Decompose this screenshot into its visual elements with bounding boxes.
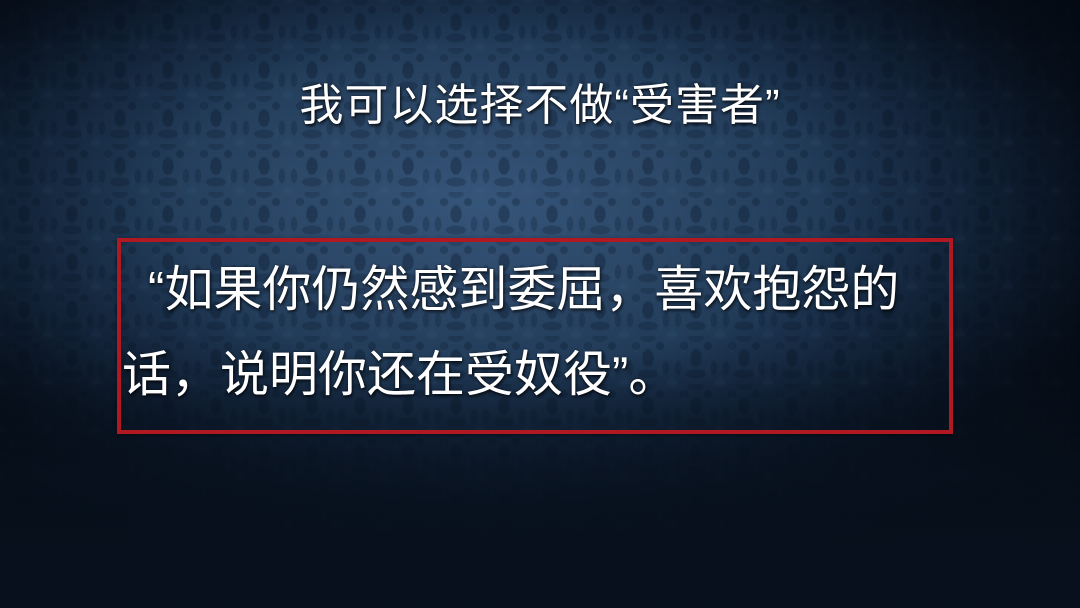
slide-content: 我可以选择不做“受害者” “如果你仍然感到委屈，喜欢抱怨的 话，说明你还在受奴役…	[0, 0, 1080, 608]
presentation-slide: 我可以选择不做“受害者” “如果你仍然感到委屈，喜欢抱怨的 话，说明你还在受奴役…	[0, 0, 1080, 608]
slide-title: 我可以选择不做“受害者”	[0, 78, 1080, 134]
quote-line-2: 话，说明你还在受奴役”。	[122, 333, 952, 418]
quote-line-1: “如果你仍然感到委屈，喜欢抱怨的	[122, 248, 952, 333]
quote-text-block: “如果你仍然感到委屈，喜欢抱怨的 话，说明你还在受奴役”。	[122, 248, 952, 418]
